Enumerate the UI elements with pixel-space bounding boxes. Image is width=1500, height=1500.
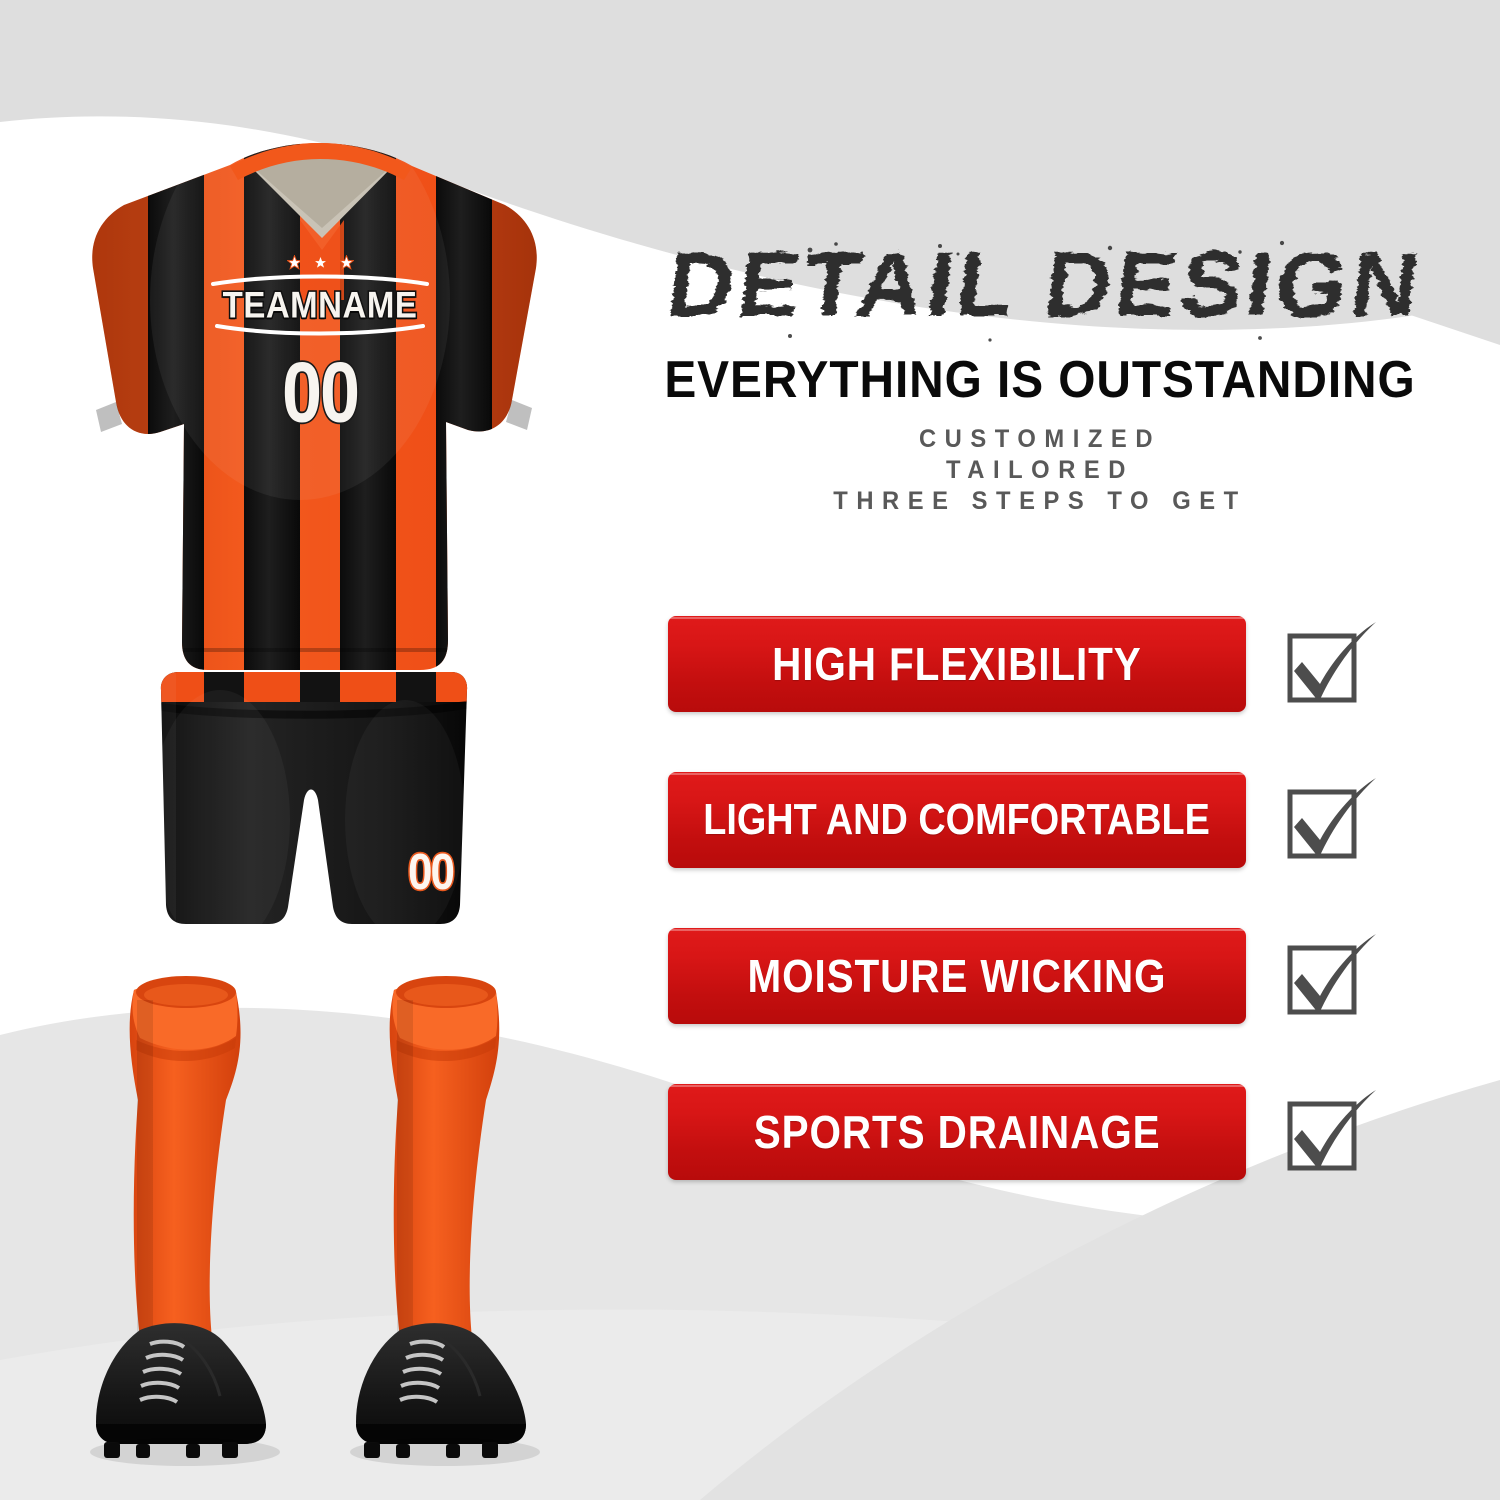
tagline-1: CUSTOMIZED (622, 424, 1458, 455)
checkbox-checked-icon[interactable] (1272, 770, 1382, 870)
cleat-shadow (350, 1438, 540, 1466)
feature-list: HIGH FLEXIBILITY LIGHT AND COMFORTABLE (668, 608, 1468, 1232)
jersey-chest-graphic: TEAMNAME 00 (205, 255, 435, 445)
feature-badge-light-and-comfortable[interactable]: LIGHT AND COMFORTABLE (668, 772, 1246, 868)
feature-row: MOISTURE WICKING (668, 920, 1468, 1032)
feature-row: SPORTS DRAINAGE (668, 1076, 1468, 1188)
checkbox-checked-icon[interactable] (1272, 614, 1382, 714)
soccer-uniform-illustration (0, 0, 600, 1500)
feature-row: LIGHT AND COMFORTABLE (668, 764, 1468, 876)
feature-badge-high-flexibility[interactable]: HIGH FLEXIBILITY (668, 616, 1246, 712)
svg-text:DETAIL DESIGN: DETAIL DESIGN (662, 232, 1429, 336)
feature-badge-sports-drainage[interactable]: SPORTS DRAINAGE (668, 1084, 1246, 1180)
star-icon (287, 255, 302, 270)
socks (130, 976, 500, 1349)
shorts (148, 660, 492, 950)
page-title: DETAIL DESIGN (600, 228, 1480, 358)
jersey-stars (287, 255, 354, 270)
jersey-stripe (436, 130, 492, 690)
info-column: DETAIL DESIGN EVERYTHING IS OUTSTANDING … (600, 0, 1500, 1500)
cleat-left (96, 1323, 266, 1458)
jersey-number: 00 (282, 345, 358, 442)
feature-row: HIGH FLEXIBILITY (668, 608, 1468, 720)
feature-badge-label: LIGHT AND COMFORTABLE (704, 795, 1211, 845)
shorts-number: 00 (408, 844, 453, 902)
tagline-group: CUSTOMIZED TAILORED THREE STEPS TO GET (600, 424, 1480, 517)
product-image-column: TEAMNAME 00 00 (0, 0, 600, 1500)
tagline-3: THREE STEPS TO GET (622, 486, 1458, 517)
page-subtitle: EVERYTHING IS OUTSTANDING (635, 350, 1445, 410)
checkbox-checked-icon[interactable] (1272, 1082, 1382, 1182)
cleat-right (356, 1323, 526, 1458)
product-detail-banner: TEAMNAME 00 00 DETAIL DESIGN (0, 0, 1500, 1500)
star-icon (339, 255, 354, 270)
feature-badge-moisture-wicking[interactable]: MOISTURE WICKING (668, 928, 1246, 1024)
tagline-2: TAILORED (622, 455, 1458, 486)
detail-design-brush-title: DETAIL DESIGN (640, 228, 1440, 348)
feature-badge-label: MOISTURE WICKING (748, 949, 1167, 1003)
cleat-shadow (90, 1438, 280, 1466)
checkbox-checked-icon[interactable] (1272, 926, 1382, 1026)
star-icon (313, 255, 328, 270)
cleats (90, 1323, 540, 1466)
jersey-team-name: TEAMNAME (223, 284, 418, 327)
feature-badge-label: HIGH FLEXIBILITY (772, 637, 1141, 691)
feature-badge-label: SPORTS DRAINAGE (754, 1105, 1161, 1159)
